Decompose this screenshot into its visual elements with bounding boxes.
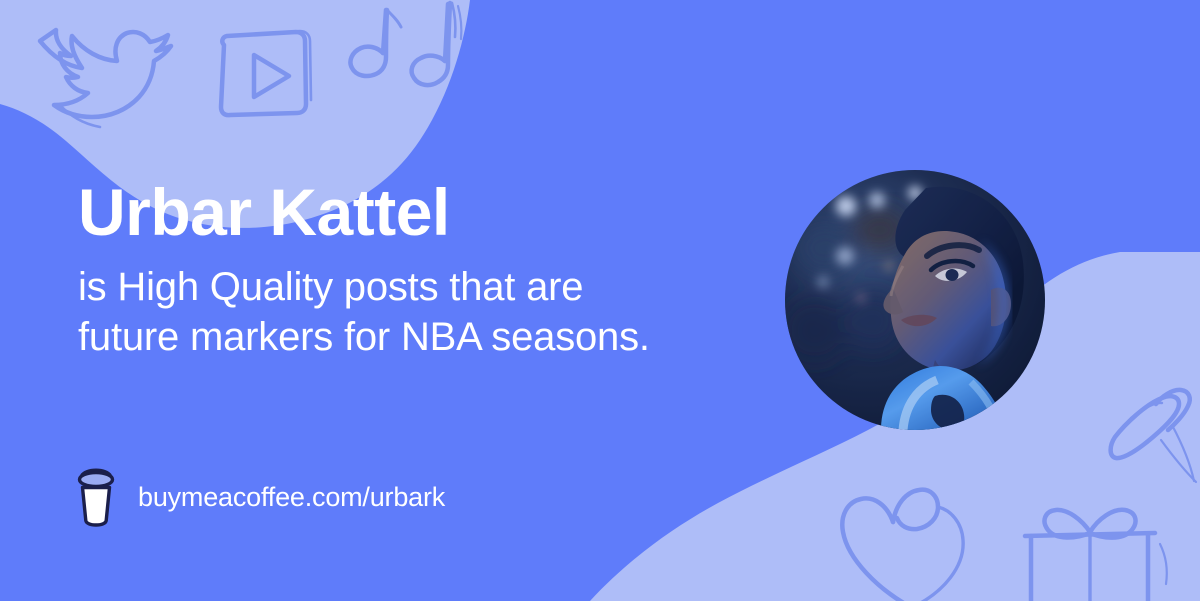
headline-block: Urbar Kattel is High Quality posts that … [78, 176, 738, 362]
profile-url-text[interactable]: buymeacoffee.com/urbark [138, 482, 445, 513]
profile-banner: Urbar Kattel is High Quality posts that … [0, 0, 1200, 601]
coffee-cup-icon [74, 466, 118, 528]
tagline-line-2: future markers for NBA seasons. [78, 312, 738, 362]
avatar[interactable] [785, 170, 1045, 430]
page-title: Urbar Kattel [78, 176, 738, 250]
profile-tagline: is High Quality posts that are future ma… [78, 262, 738, 362]
profile-url-row[interactable]: buymeacoffee.com/urbark [74, 466, 445, 528]
avatar-photo [785, 170, 1045, 430]
tagline-line-1: is High Quality posts that are [78, 262, 738, 312]
